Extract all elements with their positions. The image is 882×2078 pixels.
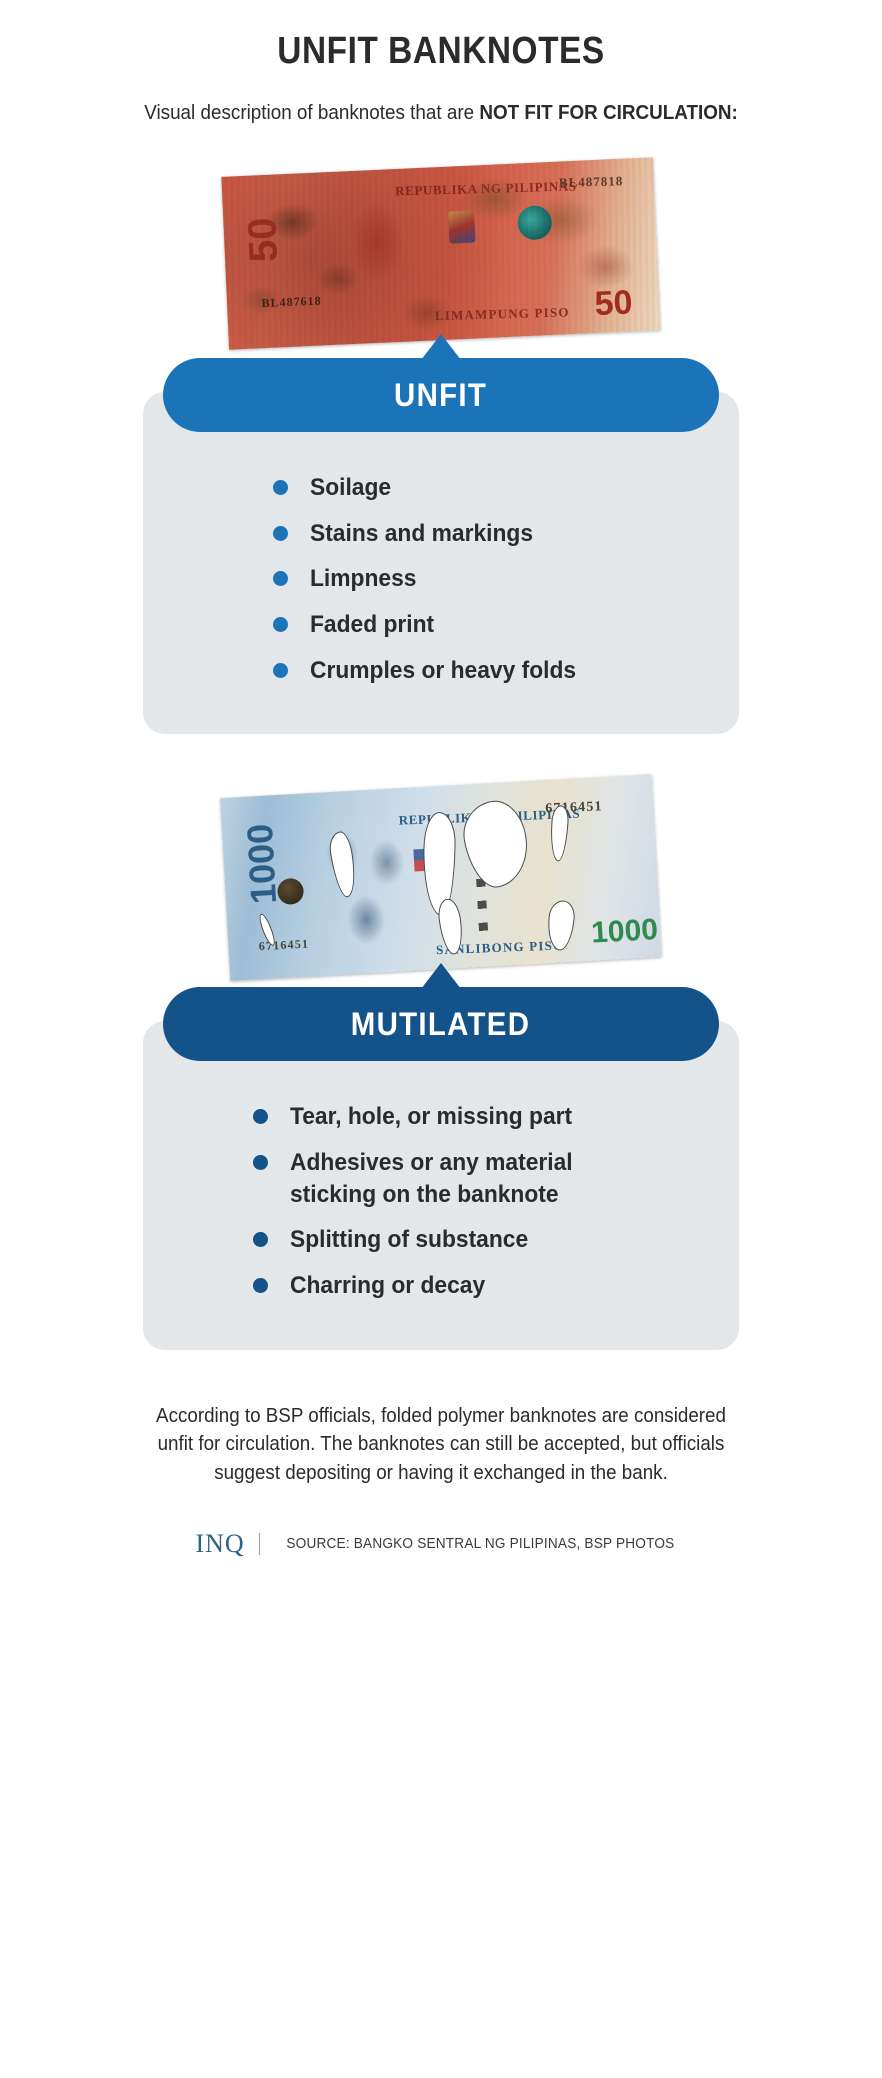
mutilated-banner: MUTILATED (163, 987, 719, 1061)
list-item-label: Stains and markings (310, 518, 533, 550)
banknote-country-text: REPUBLIKA NG PILIPINAS (395, 178, 577, 199)
list-item: Crumples or heavy folds (273, 655, 739, 687)
unfit-banner: UNFIT (163, 358, 719, 432)
bullet-dot-icon (273, 617, 288, 632)
banknote-denomination-vertical: 50 (240, 217, 287, 263)
banknote-value-words: LIMAMPUNG PISO (435, 304, 570, 324)
unfit-banner-label: UNFIT (394, 377, 487, 414)
footer-note: According to BSP officials, folded polym… (140, 1402, 742, 1487)
list-item-label: Faded print (310, 609, 434, 641)
mutilated-banner-pointer (421, 963, 461, 989)
bullet-dot-icon (253, 1232, 268, 1247)
page-title: UNFIT BANKNOTES (53, 30, 829, 73)
mutilated-section: MUTILATED Tear, hole, or missing part Ad… (143, 1021, 739, 1349)
banknote-ink-blot (277, 878, 304, 905)
bullet-dot-icon (273, 480, 288, 495)
list-item: Stains and markings (273, 518, 739, 550)
infographic-page: UNFIT BANKNOTES Visual description of ba… (0, 30, 882, 2078)
list-item-label: Crumples or heavy folds (310, 655, 576, 687)
list-item-label: Tear, hole, or missing part (290, 1101, 572, 1133)
list-item: Soilage (273, 472, 739, 504)
banknote-serial-bottom: BL487618 (261, 294, 322, 312)
banknote-denomination-corner: 50 (594, 283, 634, 324)
bullet-dot-icon (253, 1278, 268, 1293)
bullet-dot-icon (253, 1109, 268, 1124)
banknote-coat-of-arms-icon (448, 210, 475, 243)
source-divider (259, 1533, 260, 1555)
bullet-dot-icon (273, 526, 288, 541)
list-item: Faded print (273, 609, 739, 641)
banknote-tear-hole (545, 899, 576, 951)
mutilated-banner-label: MUTILATED (351, 1006, 530, 1043)
banknote-tear-hole (549, 805, 570, 862)
soiled-50-peso-banknote-image: REPUBLIKA NG PILIPINAS BL487818 BL487618… (221, 157, 660, 349)
list-item: Limpness (273, 563, 739, 595)
list-item: Tear, hole, or missing part (253, 1101, 739, 1133)
list-item-label: Charring or decay (290, 1270, 485, 1302)
bullet-dot-icon (253, 1155, 268, 1170)
unfit-card: UNFIT Soilage Stains and markings Limpne… (143, 392, 739, 734)
list-item: Charring or decay (253, 1270, 739, 1302)
unfit-criteria-list: Soilage Stains and markings Limpness Fad… (143, 472, 739, 686)
bullet-dot-icon (273, 663, 288, 678)
bullet-dot-icon (273, 571, 288, 586)
page-subtitle: Visual description of banknotes that are… (35, 101, 846, 125)
inquirer-logo: INQ (195, 1529, 244, 1559)
banknote-serial-top: BL487818 (559, 173, 624, 191)
unfit-banknote-photo-wrap: REPUBLIKA NG PILIPINAS BL487818 BL487618… (0, 125, 882, 340)
mutilated-banknote-photo-wrap: REPUBLIKA NG PILIPINAS 6716451 6716451 S… (0, 764, 882, 969)
subtitle-emphasis-text: NOT FIT FOR CIRCULATION: (479, 101, 737, 124)
unfit-section: UNFIT Soilage Stains and markings Limpne… (143, 392, 739, 734)
list-item-label: Soilage (310, 472, 391, 504)
subtitle-plain-text: Visual description of banknotes that are (144, 101, 479, 124)
list-item: Splitting of substance (253, 1224, 739, 1256)
source-row: INQ SOURCE: BANGKO SENTRAL NG PILIPINAS,… (0, 1529, 882, 1559)
source-text: SOURCE: BANGKO SENTRAL NG PILIPINAS, BSP… (286, 1536, 674, 1552)
mutilated-criteria-list: Tear, hole, or missing part Adhesives or… (143, 1101, 739, 1301)
unfit-banner-pointer (421, 334, 461, 360)
list-item-label: Limpness (310, 563, 416, 595)
banknote-tear-hole (256, 913, 277, 948)
banknote-portrait (334, 182, 423, 332)
mutilated-1000-peso-banknote-image: REPUBLIKA NG PILIPINAS 6716451 6716451 S… (220, 774, 662, 981)
banknote-tear-hole (457, 796, 535, 892)
list-item-label: Adhesives or any material sticking on th… (290, 1147, 604, 1210)
mutilated-card: MUTILATED Tear, hole, or missing part Ad… (143, 1021, 739, 1349)
banknote-denomination-corner: 1000 (590, 913, 659, 951)
list-item-label: Splitting of substance (290, 1224, 528, 1256)
list-item: Adhesives or any material sticking on th… (253, 1147, 739, 1210)
banknote-hologram-icon (517, 205, 553, 241)
